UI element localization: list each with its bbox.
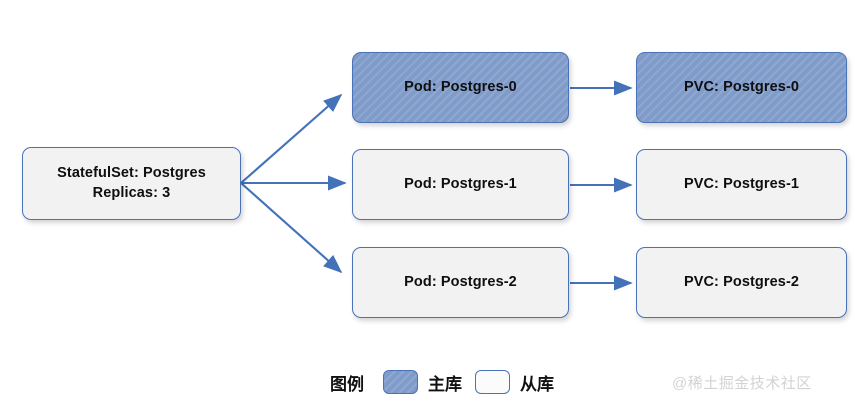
legend-swatch-replica-icon — [475, 370, 510, 394]
legend-entry-primary: 主库 — [383, 370, 462, 395]
node-pvc-postgres-1[interactable]: PVC: Postgres-1 — [636, 149, 847, 220]
node-pod-postgres-2[interactable]: Pod: Postgres-2 — [352, 247, 569, 318]
node-pvc-postgres-2[interactable]: PVC: Postgres-2 — [636, 247, 847, 318]
legend-label-replica: 从库 — [520, 370, 554, 395]
node-pod-postgres-0[interactable]: Pod: Postgres-0 — [352, 52, 569, 123]
watermark: @稀土掘金技术社区 — [672, 372, 812, 393]
node-pvc-postgres-0[interactable]: PVC: Postgres-0 — [636, 52, 847, 123]
legend-title: 图例 — [330, 370, 364, 395]
node-statefulset[interactable]: StatefulSet: Postgres Replicas: 3 — [22, 147, 241, 220]
legend-swatch-primary-icon — [383, 370, 418, 394]
node-pod-postgres-1[interactable]: Pod: Postgres-1 — [352, 149, 569, 220]
node-pod-postgres-1-label: Pod: Postgres-1 — [398, 175, 523, 195]
node-pvc-postgres-2-label: PVC: Postgres-2 — [678, 273, 805, 293]
node-statefulset-label: StatefulSet: Postgres Replicas: 3 — [51, 164, 212, 203]
node-pvc-postgres-0-label: PVC: Postgres-0 — [678, 78, 805, 98]
arrow-statefulset-to-pod-2 — [241, 183, 341, 272]
legend-entry-replica: 从库 — [475, 370, 554, 395]
legend: 图例 主库 从库 — [330, 362, 554, 402]
diagram-canvas: StatefulSet: Postgres Replicas: 3 Pod: P… — [0, 0, 867, 412]
node-pod-postgres-0-label: Pod: Postgres-0 — [398, 78, 523, 98]
node-pod-postgres-2-label: Pod: Postgres-2 — [398, 273, 523, 293]
node-pvc-postgres-1-label: PVC: Postgres-1 — [678, 175, 805, 195]
arrow-statefulset-to-pod-0 — [241, 95, 341, 183]
legend-label-primary: 主库 — [428, 370, 462, 395]
